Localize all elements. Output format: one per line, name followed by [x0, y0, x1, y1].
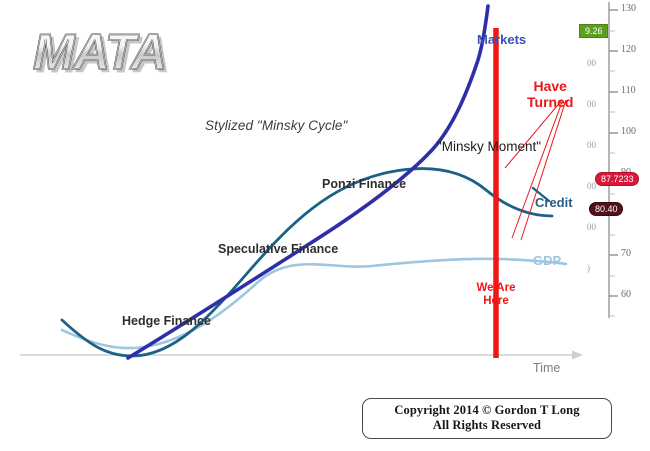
copyright-line-2: All Rights Reserved	[367, 418, 607, 433]
label-credit: Credit	[535, 196, 573, 211]
label-hedge-finance: Hedge Finance	[122, 314, 211, 328]
have-turned-line-1: Have	[533, 78, 566, 94]
label-markets: Markets	[477, 33, 526, 48]
we-are-here-line-2: Here	[483, 295, 509, 307]
label-we-are-here: We Are Here	[466, 282, 526, 308]
price-tick: 70	[621, 248, 631, 259]
quote-badge-maroon[interactable]: 80.40	[589, 202, 623, 216]
label-have-turned: Have Turned	[527, 79, 573, 110]
label-speculative-finance: Speculative Finance	[218, 242, 338, 256]
minsky-cycle-chart	[0, 0, 650, 451]
have-turned-pointer-gdp	[521, 100, 566, 240]
copyright-box: Copyright 2014 © Gordon T Long All Right…	[362, 398, 612, 439]
ghost-tick: 00	[587, 181, 596, 191]
quote-badge-green[interactable]: 9.26	[579, 24, 608, 38]
copyright-line-1: Copyright 2014 © Gordon T Long	[367, 403, 607, 418]
ghost-tick: )	[587, 263, 590, 273]
price-scale-panel: 130 120 110 100 90 70 60 00 00 00 00 00 …	[588, 0, 650, 320]
price-tick: 60	[621, 289, 631, 300]
ghost-tick: 00	[587, 222, 596, 232]
label-gdp: GDP	[533, 254, 561, 269]
price-tick: 130	[621, 3, 636, 14]
we-are-here-line-1: We Are	[477, 282, 516, 294]
price-tick: 110	[621, 85, 636, 96]
price-tick: 100	[621, 126, 636, 137]
markets-curve	[128, 6, 488, 358]
quote-badge-red[interactable]: 87.7233	[595, 172, 639, 186]
ghost-tick: 00	[587, 58, 596, 68]
label-minsky-moment: "Minsky Moment"	[437, 139, 541, 154]
chart-title: Stylized "Minsky Cycle"	[205, 118, 347, 133]
ghost-tick: 00	[587, 140, 596, 150]
label-time-axis: Time	[533, 361, 560, 375]
have-turned-pointer-mid	[512, 102, 562, 238]
ghost-tick: 00	[587, 99, 596, 109]
price-tick: 120	[621, 44, 636, 55]
minsky-cycle-infographic: MATA MATA MATA	[0, 0, 650, 451]
have-turned-line-2: Turned	[527, 94, 573, 110]
label-ponzi-finance: Ponzi Finance	[322, 177, 406, 191]
